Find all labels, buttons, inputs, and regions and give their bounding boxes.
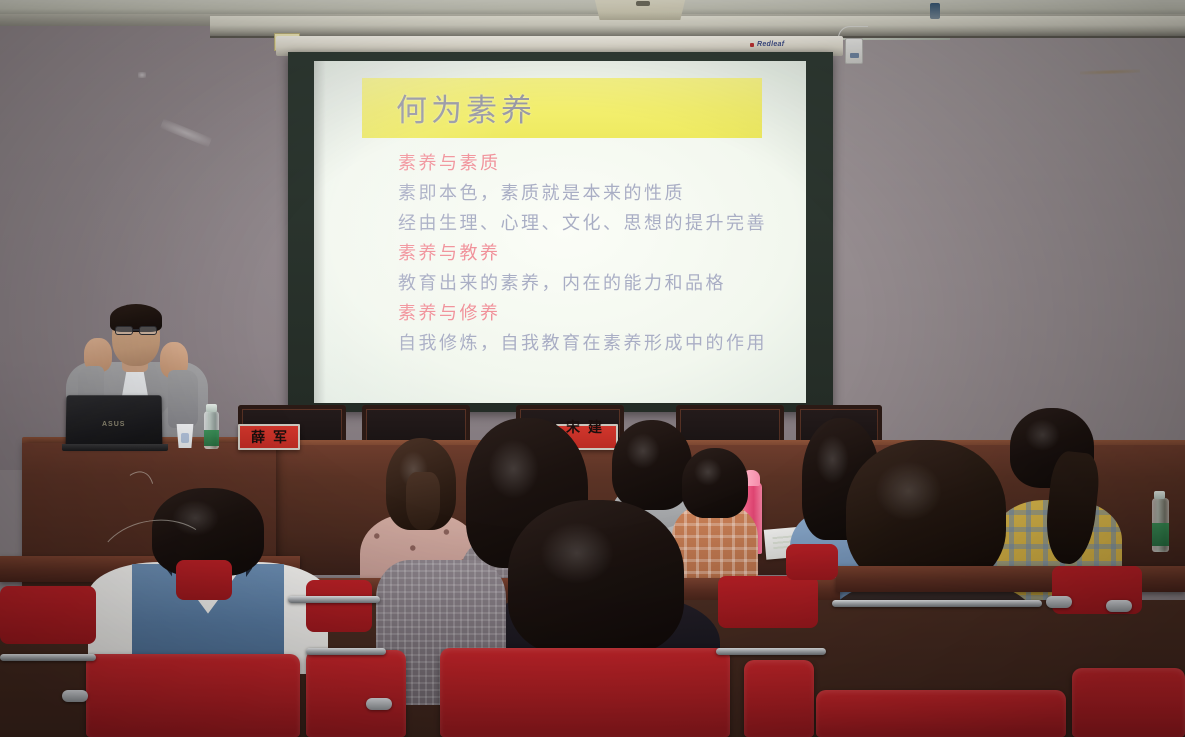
auditorium-seat[interactable] bbox=[1072, 668, 1185, 737]
presenter-arm-right bbox=[168, 370, 198, 428]
laptop[interactable]: ASUS bbox=[66, 395, 163, 447]
laptop-base bbox=[62, 444, 168, 451]
glasses-icon bbox=[139, 326, 157, 335]
projector-lens-icon bbox=[636, 1, 650, 6]
seat-armrest[interactable] bbox=[1046, 596, 1072, 608]
auditorium-seat[interactable] bbox=[440, 648, 730, 737]
name-placard-left: 薛军 bbox=[238, 424, 300, 450]
brand-dot-icon bbox=[750, 43, 754, 47]
ceiling-mount-bracket bbox=[930, 3, 940, 19]
slide-line-7: 自我修炼，自我教育在素养形成中的作用 bbox=[398, 329, 798, 359]
slide-line-2: 素即本色，素质就是本来的性质 bbox=[398, 179, 798, 209]
bottle-label bbox=[1152, 523, 1169, 546]
glasses-bridge-icon bbox=[132, 329, 140, 331]
seat-rail bbox=[306, 648, 386, 655]
placard-name-text: 薛军 bbox=[243, 427, 295, 447]
projection-screen-frame: 何为素养 素养与素质 素即本色，素质就是本来的性质 经由生理、心理、文化、思想的… bbox=[288, 52, 833, 412]
auditorium-seat[interactable] bbox=[816, 690, 1066, 737]
auditorium-seat[interactable] bbox=[0, 586, 96, 644]
slide-line-3: 经由生理、心理、文化、思想的提升完善 bbox=[398, 209, 798, 239]
glasses-icon bbox=[115, 326, 133, 335]
ceiling-rail bbox=[210, 16, 1185, 38]
seat-rail bbox=[716, 648, 826, 655]
seat-rail bbox=[288, 596, 380, 603]
seat-rail bbox=[0, 654, 96, 661]
lecture-hall-photo: Redleaf 何为素养 素养与素质 素即本色，素质就是本来的性质 经由生理、心… bbox=[0, 0, 1185, 737]
bottle-cap-icon bbox=[1154, 491, 1165, 499]
screen-edge-shadow bbox=[314, 61, 326, 403]
water-bottle[interactable] bbox=[1152, 498, 1169, 552]
slide-body: 素养与素质 素即本色，素质就是本来的性质 经由生理、心理、文化、思想的提升完善 … bbox=[398, 149, 798, 359]
wall-scuff-mark-small bbox=[138, 72, 146, 78]
auditorium-seat[interactable] bbox=[306, 650, 406, 737]
auditorium-seat[interactable] bbox=[306, 580, 372, 632]
seat-armrest[interactable] bbox=[1106, 600, 1132, 612]
slide-line-1: 素养与素质 bbox=[398, 149, 798, 179]
seat-armrest[interactable] bbox=[366, 698, 392, 710]
bottle-cap-icon bbox=[206, 404, 217, 412]
screen-brand-label: Redleaf bbox=[757, 41, 784, 48]
bottle-label bbox=[204, 430, 219, 446]
laptop-brand-label: ASUS bbox=[102, 421, 126, 428]
seat-rail bbox=[832, 600, 1042, 607]
projection-screen-surface: 何为素养 素养与素质 素即本色，素质就是本来的性质 经由生理、心理、文化、思想的… bbox=[314, 61, 806, 403]
slide-line-5: 教育出来的素养，内在的能力和品格 bbox=[398, 269, 798, 299]
water-bottle[interactable] bbox=[204, 411, 219, 449]
slide-line-6: 素养与修养 bbox=[398, 299, 798, 329]
auditorium-seat[interactable] bbox=[718, 576, 818, 628]
seat-armrest[interactable] bbox=[62, 690, 88, 702]
audience-hair bbox=[508, 500, 684, 656]
slide-line-4: 素养与教养 bbox=[398, 239, 798, 269]
auditorium-seat[interactable] bbox=[86, 654, 300, 737]
slide-title: 何为素养 bbox=[396, 85, 536, 130]
auditorium-seat[interactable] bbox=[744, 660, 814, 737]
wall-control-device[interactable] bbox=[845, 38, 863, 64]
auditorium-seat[interactable] bbox=[786, 544, 838, 580]
